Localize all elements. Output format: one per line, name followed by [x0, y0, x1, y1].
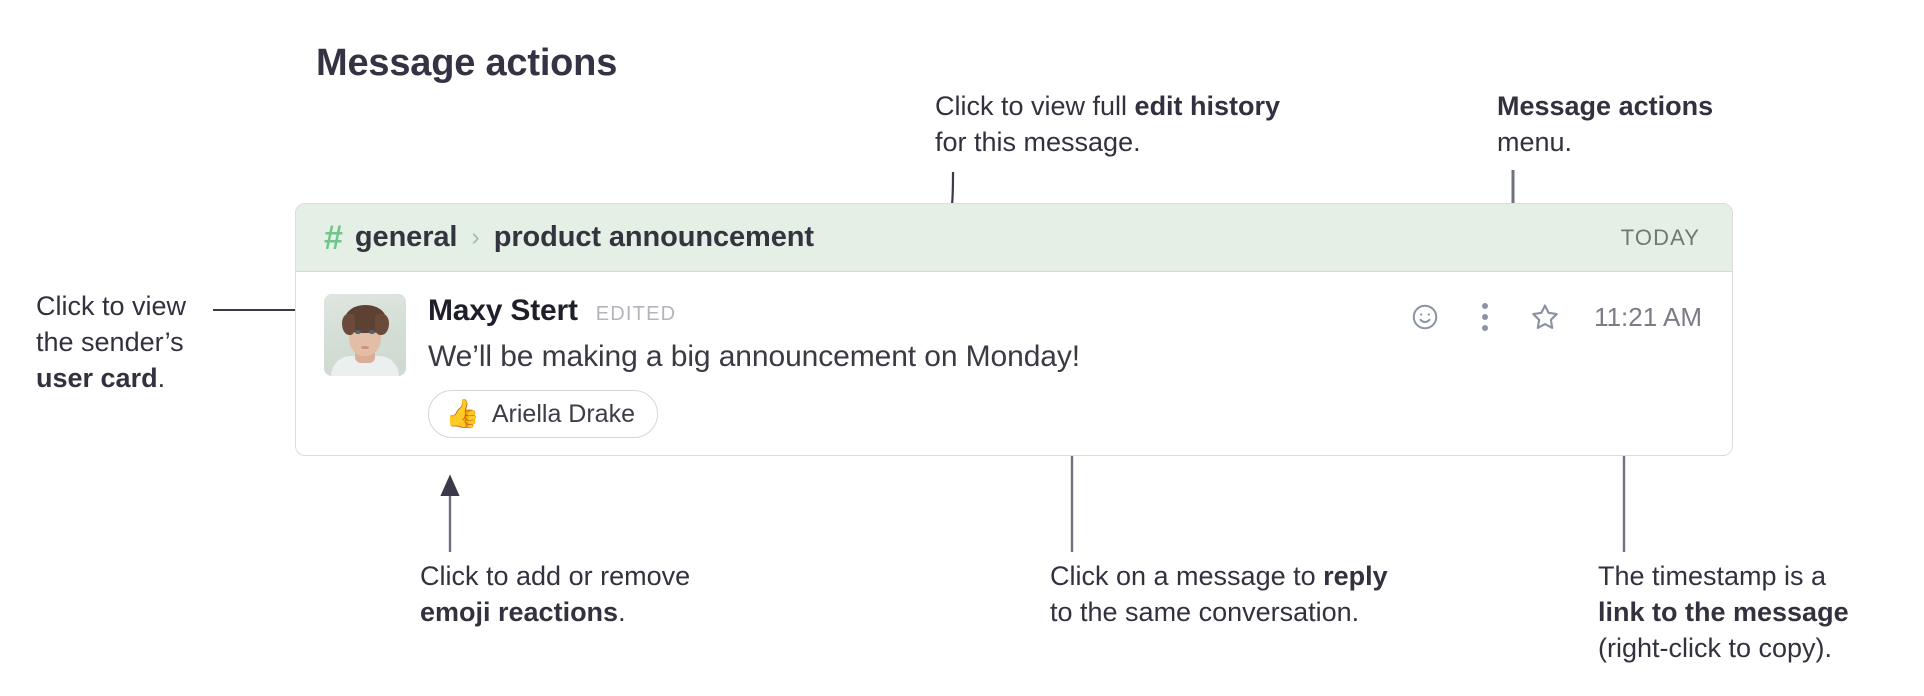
- message-actions-menu-icon[interactable]: [1468, 300, 1502, 334]
- message-actions: 11:21 AM: [1408, 300, 1702, 334]
- annotated-screenshot: Message actions: [0, 0, 1924, 696]
- annotation-emoji-line2-bold: emoji reactions: [420, 597, 618, 627]
- message-timestamp-link[interactable]: 11:21 AM: [1594, 302, 1702, 333]
- annotation-user-card-line3-post: .: [158, 363, 166, 393]
- page-title: Message actions: [316, 42, 617, 85]
- avatar-mouth: [361, 346, 369, 349]
- annotation-reply-line1-pre: Click on a message to: [1050, 561, 1323, 591]
- hash-icon: #: [324, 221, 343, 255]
- annotation-user-card-line3-bold: user card: [36, 363, 158, 393]
- annotation-emoji-line1: Click to add or remove: [420, 558, 690, 594]
- annotation-reply-line1-bold: reply: [1323, 561, 1388, 591]
- message-card: # general › product announcement TODAY: [295, 203, 1733, 456]
- annotation-edit-history-line2: for this message.: [935, 124, 1280, 160]
- annotation-actions-menu-line1: Message actions: [1497, 91, 1713, 121]
- annotation-edit-history-line1-pre: Click to view full: [935, 91, 1135, 121]
- annotation-timestamp: The timestamp is a link to the message (…: [1598, 558, 1849, 666]
- annotation-timestamp-line3: (right-click to copy).: [1598, 630, 1849, 666]
- breadcrumb-topic-name[interactable]: product announcement: [494, 221, 814, 254]
- sender-name[interactable]: Maxy Stert: [428, 294, 578, 328]
- annotation-user-card-line1: Click to view: [36, 288, 186, 324]
- annotation-timestamp-line2-bold: link to the message: [1598, 597, 1849, 627]
- date-label: TODAY: [1621, 225, 1700, 251]
- annotation-reply-line2: to the same conversation.: [1050, 594, 1388, 630]
- avatar-hair-left: [342, 314, 355, 335]
- avatar-hair-right: [375, 314, 389, 335]
- reaction-user-name: Ariella Drake: [492, 400, 635, 429]
- annotation-emoji-line2-post: .: [618, 597, 626, 627]
- star-icon[interactable]: [1528, 300, 1562, 334]
- channel-breadcrumb-bar: # general › product announcement TODAY: [296, 204, 1732, 272]
- breadcrumb-channel-name[interactable]: general: [355, 221, 457, 254]
- annotation-edit-history-line1-bold: edit history: [1135, 91, 1281, 121]
- annotation-user-card: Click to view the sender’s user card.: [36, 288, 186, 396]
- annotation-timestamp-line1: The timestamp is a: [1598, 558, 1849, 594]
- avatar[interactable]: [324, 294, 406, 376]
- thumbs-up-icon: 👍: [445, 400, 480, 428]
- edited-badge[interactable]: EDITED: [596, 303, 677, 326]
- vertical-dots: [1482, 303, 1488, 331]
- annotation-actions-menu-line2: menu.: [1497, 124, 1713, 160]
- annotation-edit-history: Click to view full edit history for this…: [935, 88, 1280, 160]
- annotation-reply: Click on a message to reply to the same …: [1050, 558, 1388, 630]
- chevron-right-icon: ›: [471, 225, 479, 250]
- emoji-reaction-icon[interactable]: [1408, 300, 1442, 334]
- message-text[interactable]: We’ll be making a big announcement on Mo…: [428, 338, 1702, 376]
- annotation-actions-menu: Message actions menu.: [1497, 88, 1713, 160]
- annotation-user-card-line2: the sender’s: [36, 324, 186, 360]
- annotation-emoji-reactions: Click to add or remove emoji reactions.: [420, 558, 690, 630]
- reaction-pill[interactable]: 👍 Ariella Drake: [428, 390, 658, 438]
- message-row[interactable]: Maxy Stert EDITED We’ll be making a big …: [296, 272, 1732, 438]
- avatar-eye-right: [369, 330, 375, 334]
